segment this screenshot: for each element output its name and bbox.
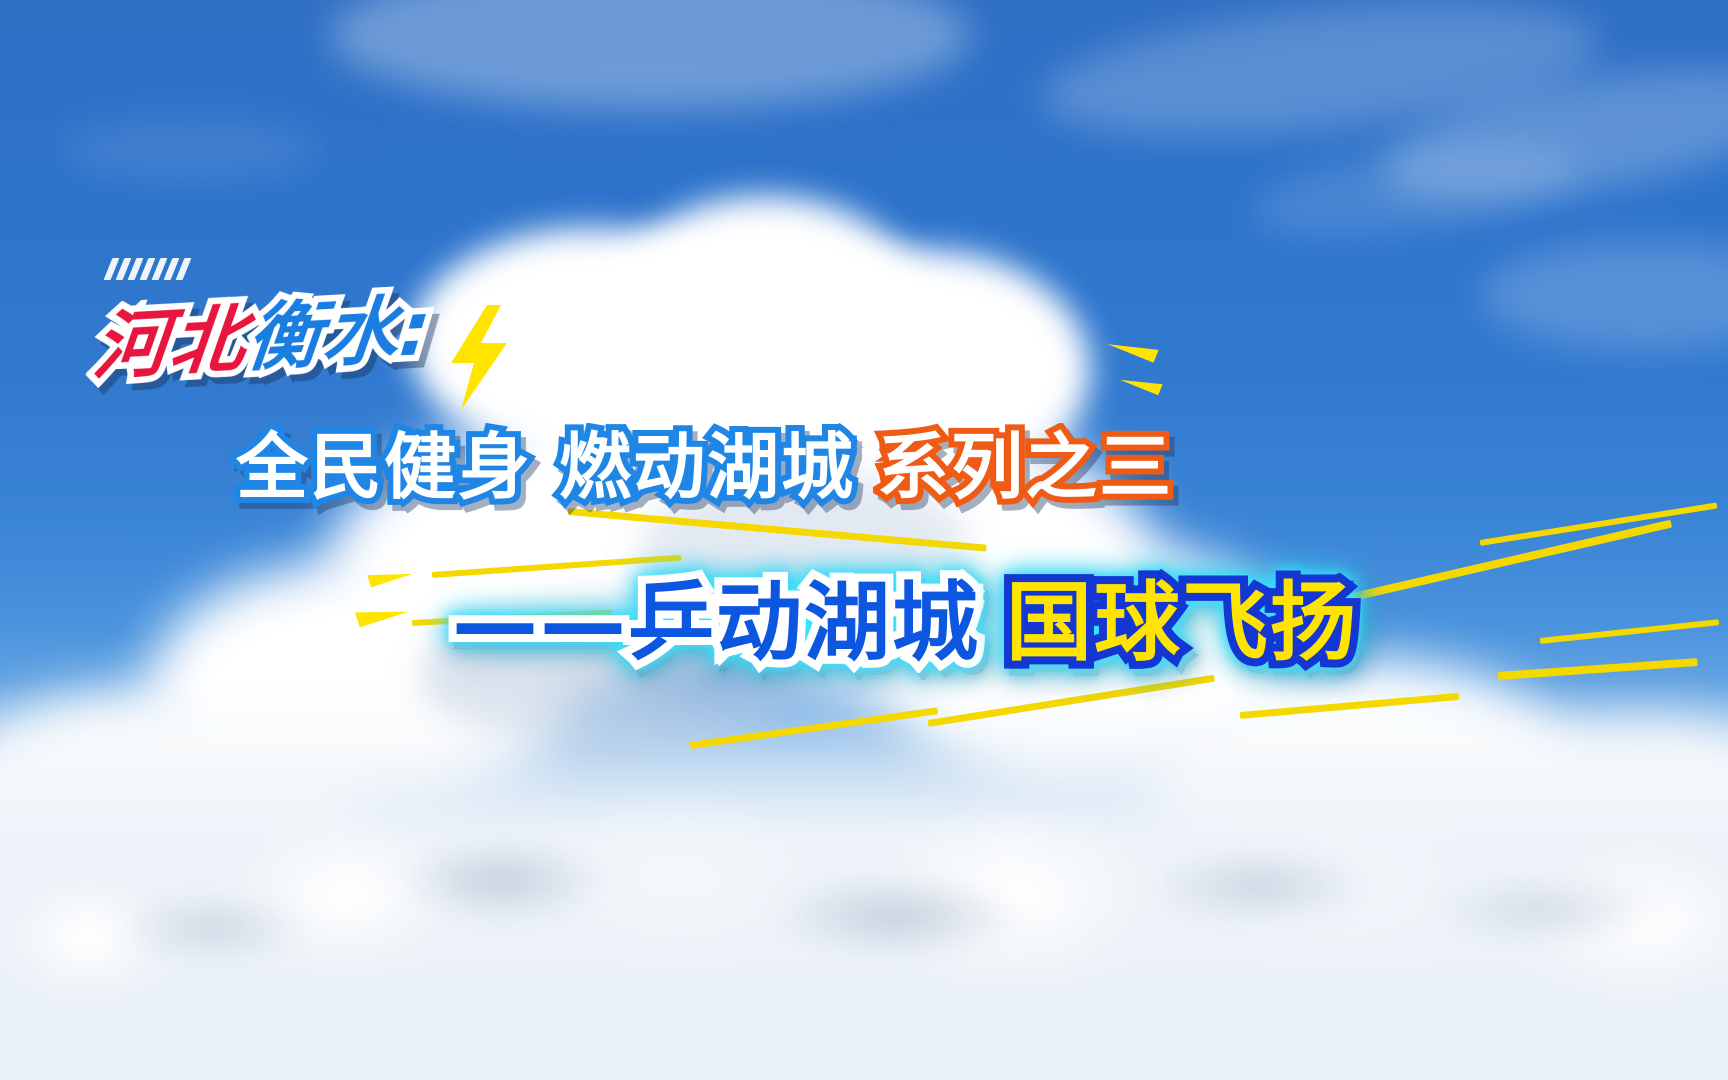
title-line3-part-2: 国球飞扬 [1006,552,1358,677]
title-block: 河北衡水: 全民健身 燃动湖城系列之三 ——乒动湖城国球飞扬 [0,0,1728,1080]
title-line2-part-2: 系列之三 [877,408,1173,513]
title-card: 河北衡水: 全民健身 燃动湖城系列之三 ——乒动湖城国球飞扬 [0,0,1728,1080]
title-line3-part-1: ——乒动湖城 [452,552,980,677]
title-line-1: 河北衡水: [89,269,438,395]
title-line1-part-2: 衡水: [242,269,438,386]
title-line-3: ——乒动湖城国球飞扬 [452,552,1358,677]
title-line2-part-1: 全民健身 燃动湖城 [236,408,855,513]
title-line1-part-1: 河北 [89,279,253,394]
title-line-2: 全民健身 燃动湖城系列之三 [236,408,1173,513]
